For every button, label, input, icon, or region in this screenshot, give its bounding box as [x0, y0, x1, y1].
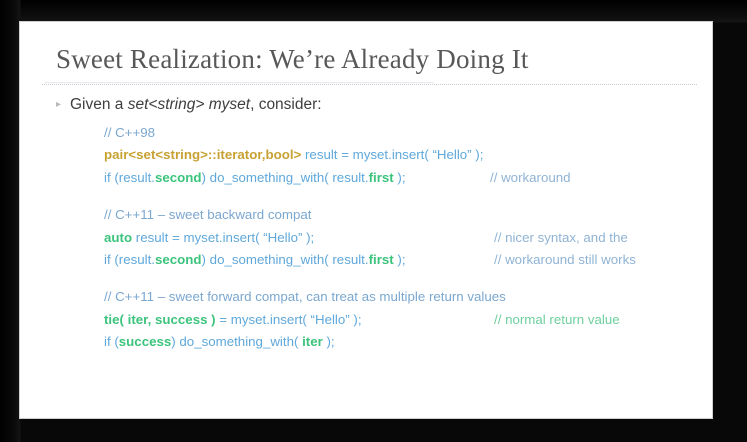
comment-cpp98: // C++98	[104, 125, 155, 140]
member-first: first	[369, 170, 394, 185]
title-underline-dotted	[42, 84, 697, 86]
code-row: tie( iter, success ) = myset.insert( “He…	[104, 309, 506, 331]
bullet-italic-set-string: set<string>	[128, 96, 205, 113]
presentation-slide: Sweet Realization: We’re Already Doing I…	[20, 22, 712, 418]
code-if-open: if (result.	[104, 252, 155, 267]
bullet-suffix: , consider:	[250, 96, 322, 113]
bullet-item: ▸ Given a set<string> myset, consider:	[56, 96, 322, 116]
code-close-paren: );	[394, 252, 406, 267]
video-player-viewport: Sweet Realization: We’re Already Doing I…	[0, 0, 747, 442]
page-title: Sweet Realization: We’re Already Doing I…	[56, 43, 529, 75]
comment-cpp11-backward: // C++11 – sweet backward compat	[104, 207, 311, 222]
code-do-something-with: ) do_something_with(	[171, 334, 302, 349]
code-do-something-with: ) do_something_with( result.	[202, 170, 369, 185]
bullet-italic-myset: myset	[209, 96, 250, 113]
code-row: auto result = myset.insert( “Hello” ); /…	[104, 227, 506, 249]
code-listing: // C++98 pair<set<string>::iterator,bool…	[104, 122, 506, 354]
keyword-auto: auto	[104, 230, 132, 245]
member-second: second	[155, 252, 202, 267]
code-if-open: if (result.	[104, 170, 155, 185]
code-if-open: if (	[104, 334, 119, 349]
comment-nicer-syntax: // nicer syntax, and the	[494, 227, 628, 249]
bullet-prefix: Given a	[70, 96, 128, 113]
comment-cpp11-forward: // C++11 – sweet forward compat, can tre…	[104, 289, 506, 304]
code-row: pair<set<string>::iterator,bool> result …	[104, 144, 506, 166]
code-tie-call: tie( iter, success )	[104, 312, 216, 327]
code-row: if (result.second) do_something_with( re…	[104, 167, 506, 189]
bullet-item-label: Given a set<string> myset, consider:	[70, 96, 322, 114]
code-assign-insert: result = myset.insert( “Hello” );	[132, 230, 314, 245]
code-blank-line	[104, 189, 506, 204]
code-comment-line: // C++11 – sweet forward compat, can tre…	[104, 286, 506, 308]
member-second: second	[155, 170, 202, 185]
comment-workaround: // workaround	[490, 167, 571, 189]
code-row: if (result.second) do_something_with( re…	[104, 249, 506, 271]
code-comment-line: // C++98	[104, 122, 506, 144]
triangle-bullet-icon: ▸	[56, 96, 70, 114]
comment-normal-return-value: // normal return value	[494, 309, 620, 331]
comment-workaround-still-works: // workaround still works	[494, 249, 636, 271]
code-comment-line: // C++11 – sweet backward compat	[104, 204, 506, 226]
code-do-something-with: ) do_something_with( result.	[202, 252, 369, 267]
code-blank-line	[104, 271, 506, 286]
code-row: if (success) do_something_with( iter );	[104, 331, 506, 353]
code-assign-insert: result = myset.insert( “Hello” );	[301, 147, 483, 162]
code-close-paren: );	[323, 334, 335, 349]
variable-iter: iter	[302, 334, 323, 349]
code-assign-insert: = myset.insert( “Hello” );	[216, 312, 362, 327]
template-type-pair: pair<set<string>::iterator,bool>	[104, 147, 301, 162]
member-first: first	[369, 252, 394, 267]
variable-success: success	[119, 334, 172, 349]
code-close-paren: );	[394, 170, 406, 185]
